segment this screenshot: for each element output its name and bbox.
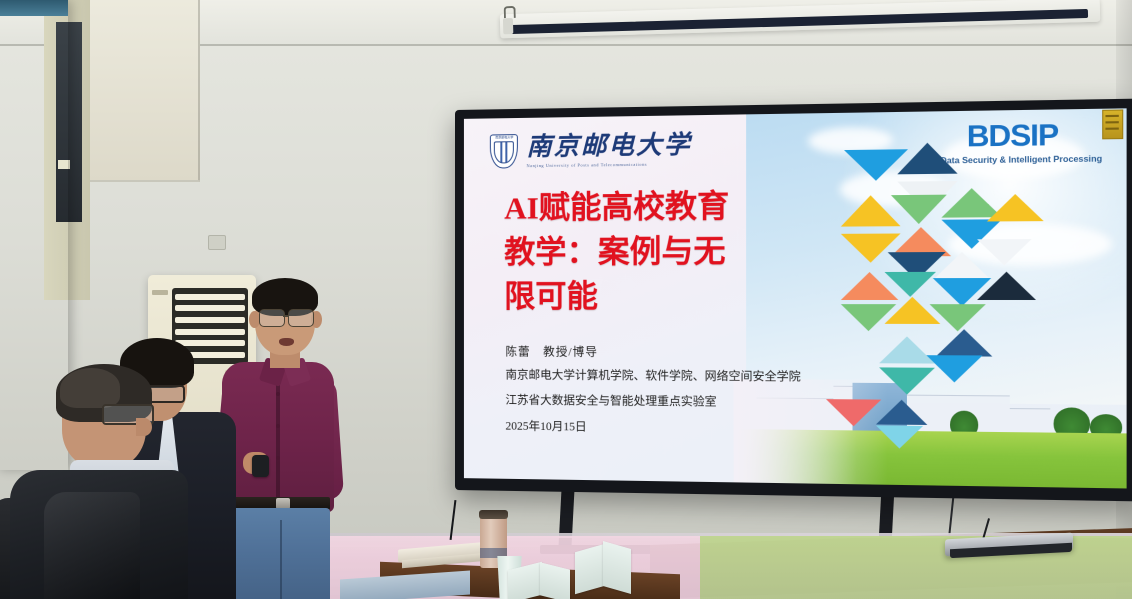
name-card-holder[interactable] [603,541,631,594]
name-card-holder[interactable] [575,544,605,595]
slide-speaker-name: 陈蕾 教授/博导 [505,344,829,362]
name-card-holder[interactable] [540,562,570,599]
attendee1-hair-highlight [60,368,120,408]
presenter-eyeglass-left [259,309,285,327]
presenter-shirt-placket [276,372,280,498]
presenter-eyeglass-bridge [283,315,289,317]
ac-vent-slat [175,294,245,300]
wall-mounted-tv[interactable]: 南京邮电大学 南京邮电大学 Nanjing University of Post… [455,99,1132,502]
university-name-cn: 南京邮电大学 [526,132,691,160]
shirt-button [276,392,280,396]
inventory-sticker [1102,109,1123,139]
shirt-button [276,424,280,428]
projector-screen-end-cap [503,18,513,34]
presenter-eyeglass-right [288,309,314,327]
slide-meta-block: 陈蕾 教授/博导 南京邮电大学计算机学院、软件学院、网络空间安全学院 江苏省大数… [505,344,829,438]
jeans-seam [280,520,282,599]
tv-screen: 南京邮电大学 南京邮电大学 Nanjing University of Post… [464,108,1127,488]
thermos-cap[interactable] [479,510,508,519]
sticker-line [1105,121,1118,123]
slide-title: AI赋能高校教育 教学：案例与无 限可能 [504,184,828,320]
presentation-clicker[interactable] [252,455,269,477]
crest-top-text: 南京邮电大学 [492,135,516,140]
wall-cabinet [88,0,200,182]
ac-vent-slat [175,317,245,323]
slide-title-line-3: 限可能 [504,274,828,319]
slide-date: 2025年10月15日 [505,417,829,437]
ac-vent-slat [175,329,245,335]
university-logo: 南京邮电大学 南京邮电大学 Nanjing University of Post… [490,132,691,169]
attendee1-jacket-fold [44,492,140,599]
projector-screen-hook-icon [504,6,516,18]
university-name-en: Nanjing University of Posts and Telecomm… [526,161,691,168]
slide-affiliation: 南京邮电大学计算机学院、软件学院、网络空间安全学院 [505,369,829,387]
ac-brand-badge [152,290,168,295]
slide-lab-name: 江苏省大数据安全与智能处理重点实验室 [505,391,829,410]
curtain-rail [0,0,68,16]
presenter-mouth [279,338,294,346]
ac-vent-slat [175,305,245,311]
sticker-line [1105,128,1118,130]
presentation-slide: 南京邮电大学 南京邮电大学 Nanjing University of Post… [464,108,1127,488]
ac-vent-slat [175,340,245,346]
sticker-line [1105,115,1118,117]
university-crest-icon: 南京邮电大学 [490,134,518,169]
slide-title-line-1: AI赋能高校教育 [504,184,828,231]
attendee1-nose [136,418,152,436]
shirt-button [276,456,280,460]
presentation-room-photo: 南京邮电大学 南京邮电大学 Nanjing University of Post… [0,0,1132,599]
slide-title-line-2: 教学：案例与无 [504,229,828,275]
wall-socket [208,235,226,250]
